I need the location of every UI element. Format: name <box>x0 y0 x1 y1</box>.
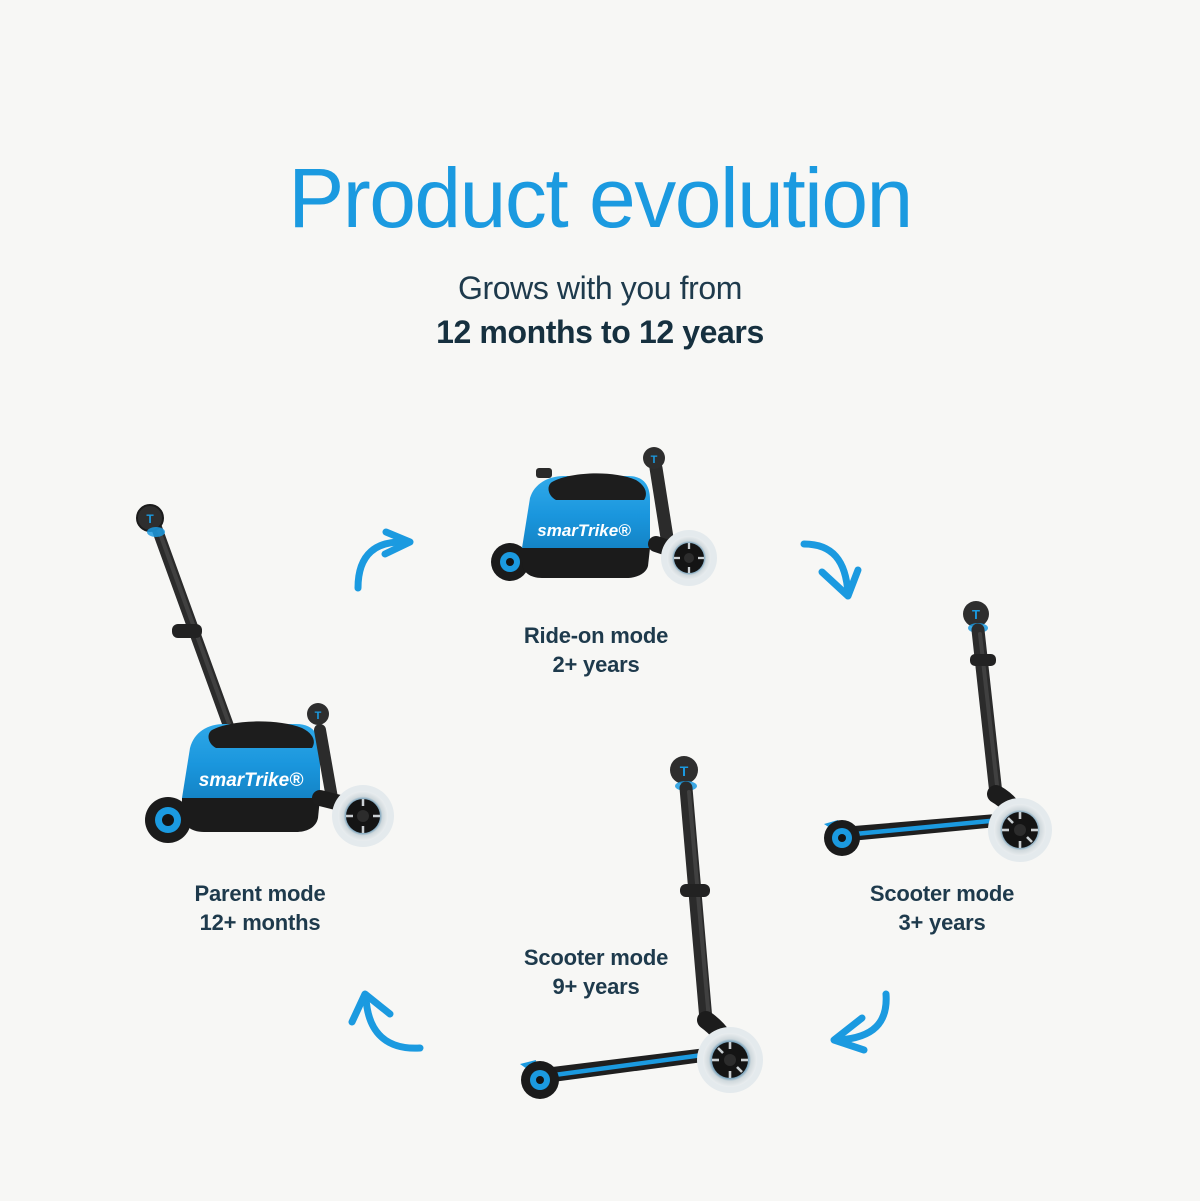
svg-text:T: T <box>680 763 689 779</box>
caption-scooter-mode-9: Scooter mode 9+ years <box>466 944 726 1001</box>
brand-logo-parent: smarTrike® <box>199 770 304 791</box>
label-age-parent: 12+ months <box>130 909 390 938</box>
subtitle-line-1: Grows with you from <box>0 268 1200 308</box>
product-evolution-infographic: Product evolution Grows with you from 12… <box>0 0 1200 1201</box>
header: Product evolution Grows with you from 12… <box>0 0 1200 352</box>
svg-text:T: T <box>972 607 980 622</box>
stem-scooter3 <box>970 630 998 794</box>
product-image-parent-mode: T smarTrike® T <box>120 498 410 868</box>
front-wheel-scooter3 <box>988 798 1052 862</box>
front-wheel-scooter9 <box>697 1027 763 1093</box>
label-mode-rideon: Ride-on mode <box>466 622 726 651</box>
product-image-ride-on-mode: smarTrike® T <box>478 440 728 600</box>
label-age-scooter9: 9+ years <box>466 973 726 1002</box>
brand-logo-rideon: smarTrike® <box>537 521 631 540</box>
page-title: Product evolution <box>0 156 1200 240</box>
rear-wheel-scooter3 <box>824 820 860 856</box>
front-wheel-rideon <box>661 530 717 586</box>
svg-text:T: T <box>146 512 154 526</box>
caption-parent-mode: Parent mode 12+ months <box>130 880 390 937</box>
arrow-scooter3-to-scooter9-icon <box>822 986 906 1062</box>
product-image-scooter-mode-9: T <box>510 752 760 1112</box>
label-mode-parent: Parent mode <box>130 880 390 909</box>
arrow-rideon-to-scooter3-icon <box>796 528 876 608</box>
front-wheel-parent <box>332 785 394 847</box>
rear-wheel-scooter9 <box>521 1061 559 1099</box>
arrow-scooter9-to-parent-icon <box>344 978 428 1062</box>
label-age-scooter3: 3+ years <box>812 909 1072 938</box>
caption-scooter-mode-3: Scooter mode 3+ years <box>812 880 1072 937</box>
subtitle-line-2: 12 months to 12 years <box>0 312 1200 352</box>
parent-pole: T <box>137 505 232 732</box>
label-mode-scooter3: Scooter mode <box>812 880 1072 909</box>
svg-text:T: T <box>651 454 658 466</box>
seat-body-rideon: smarTrike® <box>522 468 650 578</box>
label-mode-scooter9: Scooter mode <box>466 944 726 973</box>
seat-body-parent: smarTrike® <box>182 721 320 832</box>
svg-text:T: T <box>315 710 322 722</box>
caption-ride-on-mode: Ride-on mode 2+ years <box>466 622 726 679</box>
label-age-rideon: 2+ years <box>466 651 726 680</box>
product-image-scooter-mode-3: T <box>820 598 1080 868</box>
